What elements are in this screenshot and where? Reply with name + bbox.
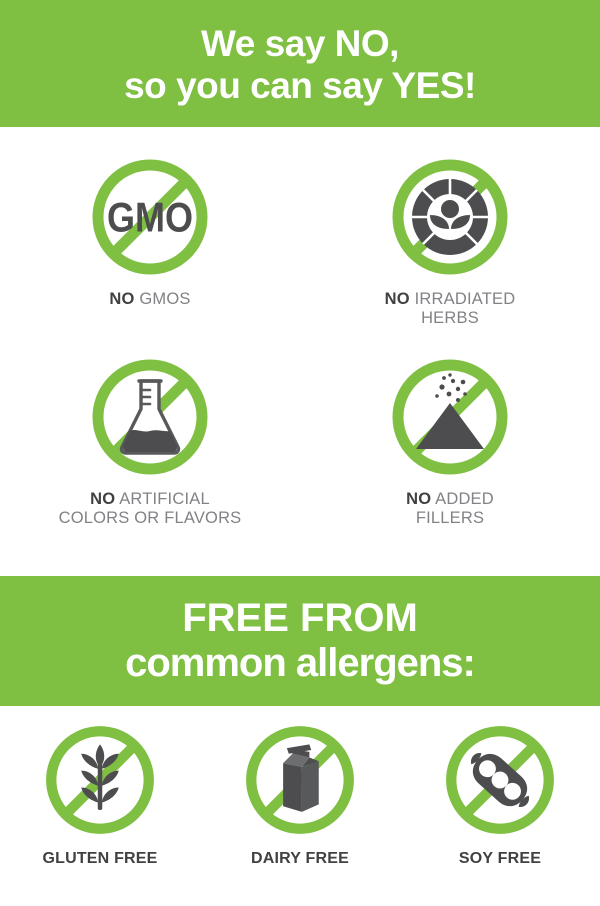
badge-no-artificial-colors: NO ARTIFICIAL COLORS OR FLAVORS: [0, 353, 300, 529]
caption-strong: NO: [385, 290, 410, 308]
poster-root: We say NO, so you can say YES! GMO NO GM…: [0, 0, 600, 882]
header-banner-allergens: FREE FROM common allergens:: [0, 576, 600, 706]
header-line-1: We say NO,: [201, 23, 399, 64]
badge-no-added-fillers: NO ADDED FILLERS: [300, 353, 600, 529]
caption-line2: HERBS: [385, 309, 516, 328]
caption-gluten-free: GLUTEN FREE: [42, 850, 157, 868]
badge-soy-free: SOY FREE: [400, 720, 600, 906]
dairy-free-milk-carton-icon: [240, 720, 360, 840]
gluten-free-wheat-icon: [40, 720, 160, 840]
caption-soy-free: SOY FREE: [459, 850, 541, 868]
caption-rest: ARTIFICIAL: [119, 490, 210, 508]
caption-rest: ADDED: [435, 490, 494, 508]
no-artificial-colors-flask-icon: [86, 353, 214, 481]
allergens-line-1: FREE FROM: [182, 596, 418, 641]
badge-caption-no-added-fillers: NO ADDED FILLERS: [406, 490, 494, 529]
badge-no-irradiated-herbs: NO IRRADIATED HERBS: [300, 153, 600, 329]
badge-caption-no-gmos: NO GMOS: [109, 290, 190, 309]
soy-free-soybean-icon: [440, 720, 560, 840]
badge-gluten-free: GLUTEN FREE: [0, 720, 200, 906]
caption-rest: GMOS: [139, 290, 190, 308]
gmo-inner-label: GMO: [107, 194, 193, 241]
no-claims-grid: GMO NO GMOS: [0, 127, 600, 553]
allergens-line-2: common allergens:: [125, 641, 475, 686]
caption-strong: NO: [90, 490, 115, 508]
caption-strong: NO: [406, 490, 431, 508]
badge-caption-no-artificial-colors: NO ARTIFICIAL COLORS OR FLAVORS: [59, 490, 242, 529]
badge-dairy-free: DAIRY FREE: [200, 720, 400, 906]
header-line-2: so you can say YES!: [124, 65, 476, 106]
caption-dairy-free: DAIRY FREE: [251, 850, 349, 868]
caption-line2: FILLERS: [406, 509, 494, 528]
no-irradiated-herbs-icon: [386, 153, 514, 281]
no-gmo-icon: GMO: [86, 153, 214, 281]
powder-pile: [416, 373, 484, 449]
badge-caption-no-irradiated-herbs: NO IRRADIATED HERBS: [385, 290, 516, 329]
no-added-fillers-icon: [386, 353, 514, 481]
irradiation-dial: [412, 179, 488, 255]
caption-rest: IRRADIATED: [415, 290, 516, 308]
milk-carton: [283, 744, 319, 812]
header-banner-top: We say NO, so you can say YES!: [0, 0, 600, 127]
badge-no-gmos: GMO NO GMOS: [0, 153, 300, 309]
caption-line2: COLORS OR FLAVORS: [59, 509, 242, 528]
allergen-free-row: GLUTEN FREE: [0, 706, 600, 906]
caption-strong: NO: [109, 290, 134, 308]
